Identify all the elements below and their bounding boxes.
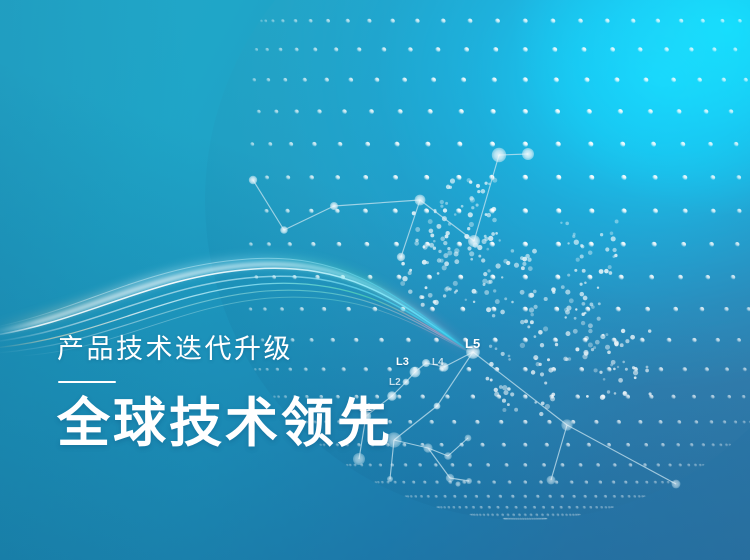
network-labels: L1L2L3L4L5	[0, 0, 750, 560]
node-label-l3: L3	[396, 357, 409, 368]
banner-subtitle: 产品技术迭代升级	[57, 336, 393, 363]
title-divider	[58, 381, 116, 383]
title-block: 产品技术迭代升级 全球技术领先	[57, 336, 393, 450]
node-label-l4: L4	[432, 358, 444, 368]
banner-title: 全球技术领先	[57, 397, 393, 450]
banner-root: L1L2L3L4L5 产品技术迭代升级 全球技术领先	[0, 0, 750, 560]
node-label-l5: L5	[465, 337, 480, 350]
